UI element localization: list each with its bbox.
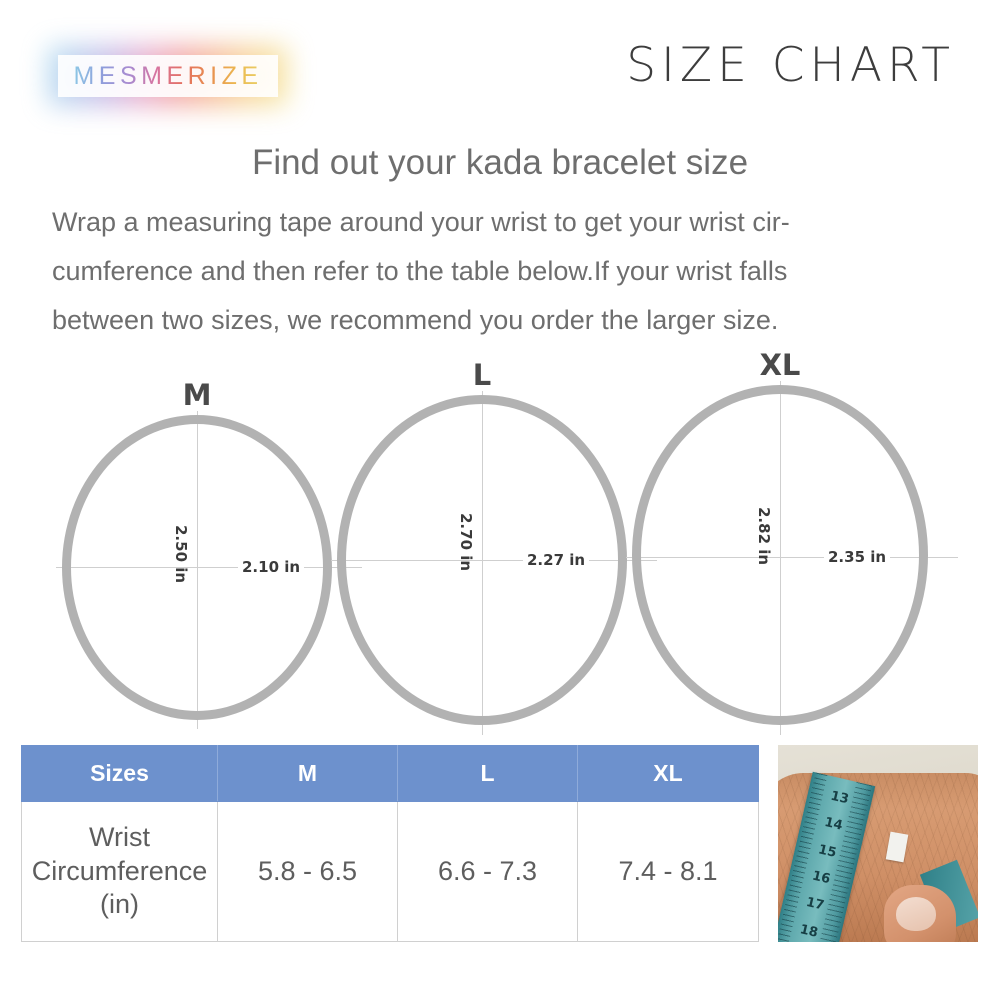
wrist-measurement-photo: 13 14 15 16 17 18 bbox=[778, 745, 978, 942]
cell-wrist-circumference-l: 6.6 - 7.3 bbox=[398, 802, 578, 942]
row-label-line-3: (in) bbox=[23, 888, 216, 922]
oval-xl-size-label: XL bbox=[760, 351, 801, 380]
oval-m-width-dimension: 2.10 in bbox=[238, 558, 304, 576]
tape-number-18: 18 bbox=[798, 922, 819, 941]
oval-l-height-dimension: 2.70 in bbox=[457, 513, 475, 571]
tape-number-14: 14 bbox=[823, 815, 844, 834]
intro-paragraph: Wrap a measuring tape around your wrist … bbox=[52, 198, 958, 345]
intro-heading: Find out your kada bracelet size bbox=[0, 142, 1000, 184]
oval-xl-width-dimension: 2.35 in bbox=[824, 548, 890, 566]
column-header-sizes: Sizes bbox=[22, 746, 218, 802]
oval-m-size-label: M bbox=[183, 381, 212, 410]
cell-wrist-circumference-m: 5.8 - 6.5 bbox=[218, 802, 398, 942]
table-row: Wrist Circumference (in) 5.8 - 6.5 6.6 -… bbox=[22, 802, 759, 942]
column-header-l: L bbox=[398, 746, 578, 802]
brand-logo-plate: MESMERIZE bbox=[58, 55, 278, 97]
cell-wrist-circumference-xl: 7.4 - 8.1 bbox=[578, 802, 759, 942]
oval-figure-m: M 2.50 in 2.10 in bbox=[62, 415, 332, 720]
row-label-line-1: Wrist bbox=[23, 821, 216, 855]
page-title: SIZE CHART bbox=[626, 42, 955, 89]
row-label-wrist-circumference: Wrist Circumference (in) bbox=[22, 802, 218, 942]
oval-figure-l: L 2.70 in 2.27 in bbox=[337, 395, 627, 725]
tape-number-15: 15 bbox=[817, 842, 838, 861]
column-header-xl: XL bbox=[578, 746, 759, 802]
oval-xl-height-dimension: 2.82 in bbox=[755, 507, 773, 565]
intro-line-2: cumference and then refer to the table b… bbox=[52, 247, 958, 296]
oval-l-size-label: L bbox=[473, 361, 491, 390]
intro-line-1: Wrap a measuring tape around your wrist … bbox=[52, 198, 958, 247]
oval-m-height-dimension: 2.50 in bbox=[172, 525, 190, 583]
size-table: Sizes M L XL Wrist Circumference (in) 5.… bbox=[21, 745, 759, 942]
oval-figure-xl: XL 2.82 in 2.35 in bbox=[632, 385, 928, 725]
brand-logo: MESMERIZE bbox=[48, 46, 288, 106]
oval-l-width-dimension: 2.27 in bbox=[523, 551, 589, 569]
tape-number-16: 16 bbox=[811, 869, 832, 888]
oval-diagrams: M 2.50 in 2.10 in L 2.70 in 2.27 in XL 2… bbox=[0, 350, 1000, 750]
table-header-row: Sizes M L XL bbox=[22, 746, 759, 802]
photo-thumb bbox=[884, 885, 956, 942]
brand-wordmark: MESMERIZE bbox=[73, 62, 262, 91]
tape-number-13: 13 bbox=[829, 789, 850, 808]
column-header-m: M bbox=[218, 746, 398, 802]
tape-number-17: 17 bbox=[804, 895, 825, 914]
intro-line-3: between two sizes, we recommend you orde… bbox=[52, 296, 958, 345]
row-label-line-2: Circumference bbox=[23, 855, 216, 889]
